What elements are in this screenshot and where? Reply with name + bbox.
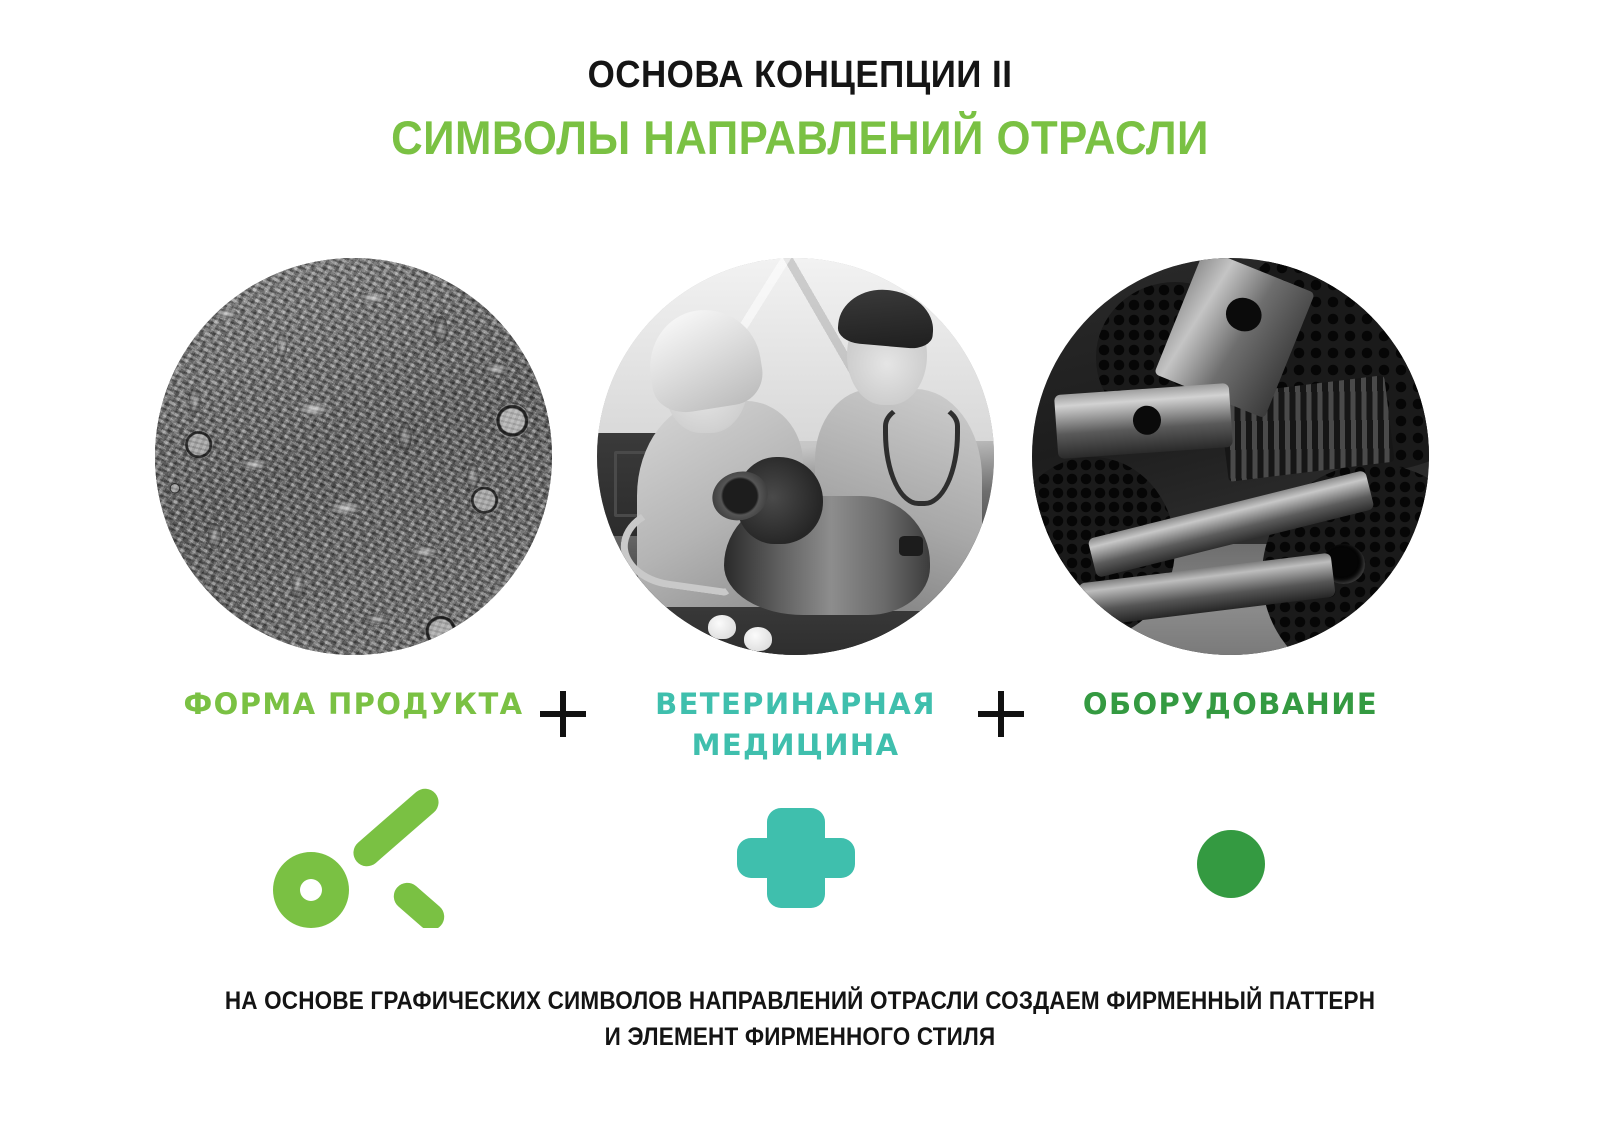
cat-paw bbox=[744, 627, 772, 651]
solid-circle-symbol bbox=[1171, 788, 1291, 928]
brand-symbols-row bbox=[0, 788, 1600, 928]
wristwatch bbox=[899, 536, 923, 556]
symbol-slot-veterinary bbox=[597, 788, 994, 928]
footer-note: НА ОСНОВЕ ГРАФИЧЕСКИХ СИМВОЛОВ НАПРАВЛЕН… bbox=[0, 984, 1600, 1055]
long-stroke-shape bbox=[347, 788, 443, 872]
equipment-scene bbox=[1032, 258, 1429, 655]
equipment-photo bbox=[1032, 258, 1429, 655]
caption-equipment: ОБОРУДОВАНИЕ bbox=[1032, 684, 1429, 725]
symbol-slot-equipment bbox=[1032, 788, 1429, 928]
footer-line-2: И ЭЛЕМЕНТ ФИРМЕННОГО СТИЛЯ bbox=[80, 1020, 1520, 1056]
caption-product-form: ФОРМА ПРОДУКТА bbox=[155, 684, 552, 725]
veterinarians-photo bbox=[597, 258, 994, 655]
footer-line-1: НА ОСНОВЕ ГРАФИЧЕСКИХ СИМВОЛОВ НАПРАВЛЕН… bbox=[80, 984, 1520, 1020]
cross-shape bbox=[737, 808, 855, 908]
title-line-secondary: СИМВОЛЫ НАПРАВЛЕНИЙ ОТРАСЛИ bbox=[56, 113, 1544, 162]
title-line-primary: ОСНОВА КОНЦЕПЦИИ II bbox=[64, 56, 1536, 96]
short-stroke-shape bbox=[388, 877, 449, 928]
concept-column-veterinary bbox=[597, 258, 994, 655]
ring-and-strokes-symbol bbox=[259, 788, 449, 928]
page-title: ОСНОВА КОНЦЕПЦИИ II СИМВОЛЫ НАПРАВЛЕНИЙ … bbox=[0, 56, 1600, 162]
circle-shape bbox=[1197, 830, 1265, 898]
vet-scene bbox=[597, 258, 994, 655]
concept-column-equipment bbox=[1032, 258, 1429, 655]
concept-captions-row: ФОРМА ПРОДУКТА ВЕТЕРИНАРНАЯ МЕДИЦИНА ОБО… bbox=[0, 684, 1600, 774]
cat-paw bbox=[708, 615, 736, 639]
pellets-photo bbox=[155, 258, 552, 655]
pellets-texture bbox=[155, 258, 552, 655]
concept-column-product-form bbox=[155, 258, 552, 655]
medical-cross-symbol bbox=[736, 788, 856, 928]
roller-hole bbox=[1221, 292, 1267, 337]
roller-hole bbox=[1132, 404, 1162, 435]
roller-shaft bbox=[1054, 383, 1233, 459]
symbol-slot-product-form bbox=[155, 788, 552, 928]
concept-images-row bbox=[0, 258, 1600, 658]
ring-shape bbox=[273, 852, 349, 928]
caption-veterinary-medicine: ВЕТЕРИНАРНАЯ МЕДИЦИНА bbox=[597, 684, 994, 766]
